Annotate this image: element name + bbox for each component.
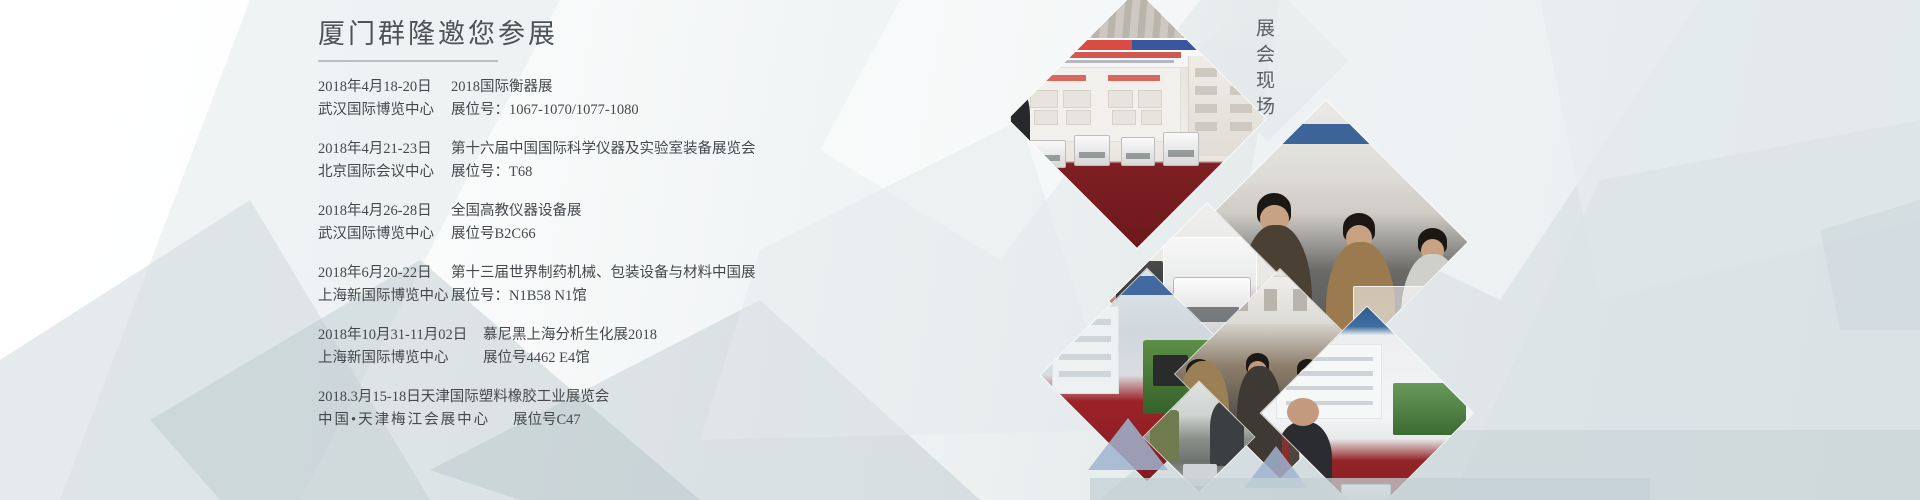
entry-line-date: 2018.3月15-18日天津国际塑料橡胶工业展览会 xyxy=(318,386,958,409)
exhibition-entry: 2018.3月15-18日天津国际塑料橡胶工业展览会 中国•天津梅江会展中心 展… xyxy=(318,386,958,433)
exhibition-entry: 2018年4月21-23日 第十六届中国国际科学仪器及实验室装备展览会 北京国际… xyxy=(318,138,958,185)
entry-date: 2018年6月20-22日 xyxy=(318,262,451,285)
entry-date: 2018.3月15-18日天津国际塑料橡胶工业展览会 xyxy=(318,386,609,409)
entry-booth: 展位号：1067-1070/1077-1080 xyxy=(451,99,639,122)
entry-line-venue: 上海新国际博览中心 展位号4462 E4馆 xyxy=(318,347,958,370)
entry-name: 慕尼黑上海分析生化展2018 xyxy=(483,324,657,347)
entry-line-date: 2018年10月31-11月02日 慕尼黑上海分析生化展2018 xyxy=(318,324,958,347)
entry-date: 2018年4月18-20日 xyxy=(318,76,451,99)
page-title: 厦门群隆邀您参展 xyxy=(318,18,958,52)
entry-booth: 展位号：N1B58 N1馆 xyxy=(451,285,587,308)
background-polygons xyxy=(0,0,1920,500)
entry-line-date: 2018年6月20-22日 第十三届世界制药机械、包装设备与材料中国展 xyxy=(318,262,958,285)
entry-line-date: 2018年4月26-28日 全国高教仪器设备展 xyxy=(318,200,958,223)
entry-booth: 展位号C47 xyxy=(513,409,581,432)
entry-line-date: 2018年4月18-20日 2018国际衡器展 xyxy=(318,76,958,99)
entry-booth: 展位号4462 E4馆 xyxy=(483,347,590,370)
entry-date: 2018年4月26-28日 xyxy=(318,200,451,223)
decorative-triangle-left xyxy=(1088,418,1168,470)
photo-collage xyxy=(1030,0,1450,500)
exhibition-entry: 2018年4月26-28日 全国高教仪器设备展 武汉国际博览中心 展位号B2C6… xyxy=(318,200,958,247)
entry-name: 第十三届世界制药机械、包装设备与材料中国展 xyxy=(451,262,756,285)
entry-line-venue: 武汉国际博览中心 展位号B2C66 xyxy=(318,223,958,246)
exhibition-entry: 2018年10月31-11月02日 慕尼黑上海分析生化展2018 上海新国际博览… xyxy=(318,324,958,371)
title-underline xyxy=(318,60,498,62)
entry-line-venue: 中国•天津梅江会展中心 展位号C47 xyxy=(318,409,958,432)
entry-date: 2018年10月31-11月02日 xyxy=(318,324,483,347)
entry-name: 2018国际衡器展 xyxy=(451,76,553,99)
entry-venue: 武汉国际博览中心 xyxy=(318,99,451,122)
entry-date: 2018年4月21-23日 xyxy=(318,138,451,161)
entry-venue: 上海新国际博览中心 xyxy=(318,285,451,308)
entry-booth: 展位号B2C66 xyxy=(451,223,536,246)
entry-line-venue: 北京国际会议中心 展位号：T68 xyxy=(318,161,958,184)
entry-booth: 展位号：T68 xyxy=(451,161,532,184)
entry-name: 全国高教仪器设备展 xyxy=(451,200,582,223)
entry-line-venue: 上海新国际博览中心 展位号：N1B58 N1馆 xyxy=(318,285,958,308)
entry-venue: 武汉国际博览中心 xyxy=(318,223,451,246)
exhibition-list: 厦门群隆邀您参展 2018年4月18-20日 2018国际衡器展 武汉国际博览中… xyxy=(318,18,958,448)
entry-line-venue: 武汉国际博览中心 展位号：1067-1070/1077-1080 xyxy=(318,99,958,122)
entry-venue: 中国•天津梅江会展中心 xyxy=(318,409,513,432)
bottom-strip xyxy=(1090,478,1650,500)
exhibition-entry: 2018年4月18-20日 2018国际衡器展 武汉国际博览中心 展位号：106… xyxy=(318,76,958,123)
entry-name: 第十六届中国国际科学仪器及实验室装备展览会 xyxy=(451,138,756,161)
entry-venue: 北京国际会议中心 xyxy=(318,161,451,184)
promo-banner: 厦门群隆邀您参展 2018年4月18-20日 2018国际衡器展 武汉国际博览中… xyxy=(0,0,1920,500)
entry-venue: 上海新国际博览中心 xyxy=(318,347,483,370)
entry-line-date: 2018年4月21-23日 第十六届中国国际科学仪器及实验室装备展览会 xyxy=(318,138,958,161)
exhibition-entry: 2018年6月20-22日 第十三届世界制药机械、包装设备与材料中国展 上海新国… xyxy=(318,262,958,309)
